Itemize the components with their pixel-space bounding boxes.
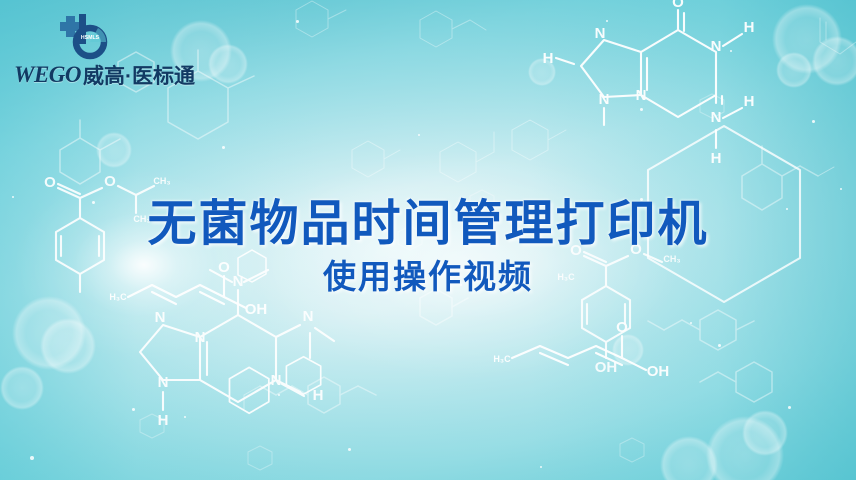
page-title: 无菌物品时间管理打印机	[0, 196, 856, 252]
wordmark-latin: WEGO	[14, 62, 81, 88]
page-subtitle: 使用操作视频	[0, 258, 856, 296]
title-group: 无菌物品时间管理打印机 使用操作视频	[0, 196, 856, 296]
brand-logo: HSMLS WEGO 威高·医标通	[14, 12, 194, 92]
logo-inner-text: HSMLS	[81, 35, 100, 41]
brand-wordmark: WEGO 威高·医标通	[14, 62, 194, 88]
wordmark-chinese: 威高·医标通	[83, 60, 195, 90]
wego-circle-b-cross-logo: HSMLS	[60, 12, 112, 60]
video-title-card: .ml { fill:none; stroke:#ffffff; stroke-…	[0, 0, 856, 480]
